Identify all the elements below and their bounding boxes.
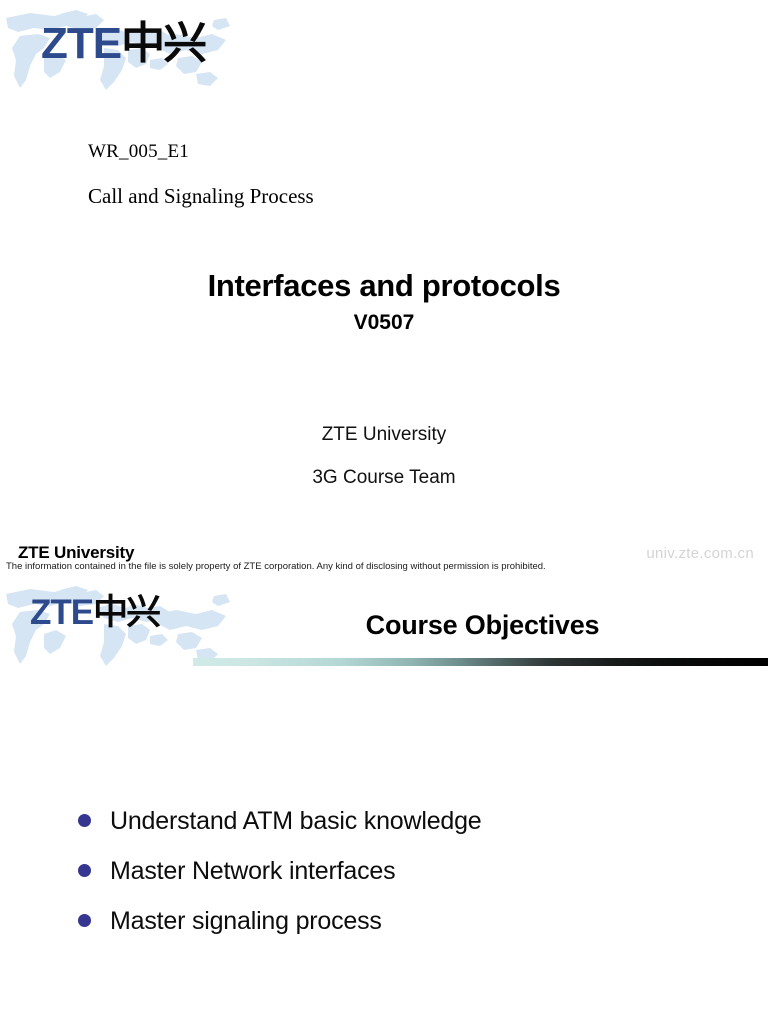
zte-logo: ZTE中兴 <box>30 595 159 631</box>
bullet-dot-icon <box>78 814 91 827</box>
presentation-page: ZTE中兴 WR_005_E1 Call and Signaling Proce… <box>0 0 768 1024</box>
zte-logo-latin: ZTE <box>30 593 93 632</box>
list-item: Understand ATM basic knowledge <box>0 796 768 846</box>
slide-course-objectives: ZTE中兴 Course Objectives Understand ATM b… <box>0 578 768 1024</box>
zte-logo-latin: ZTE <box>41 19 121 68</box>
zte-logo-han: 中兴 <box>121 18 205 69</box>
section-title: Course Objectives <box>210 610 755 641</box>
list-item-label: Master Network interfaces <box>76 857 395 886</box>
page-title: Interfaces and protocols <box>0 268 768 304</box>
footer-disclaimer: The information contained in the file is… <box>6 561 546 572</box>
document-code: WR_005_E1 <box>88 141 189 163</box>
document-subject: Call and Signaling Process <box>88 184 314 209</box>
version-label: V0507 <box>0 311 768 335</box>
zte-logo: ZTE中兴 <box>41 22 205 66</box>
bullet-dot-icon <box>78 914 91 927</box>
list-item: Master signaling process <box>0 896 768 946</box>
title-gradient-rule <box>193 658 768 666</box>
objectives-list: Understand ATM basic knowledge Master Ne… <box>0 796 768 946</box>
footer-brand: ZTE University <box>18 543 134 563</box>
team-name: 3G Course Team <box>0 467 768 489</box>
list-item: Master Network interfaces <box>0 846 768 896</box>
slide-title-page: ZTE中兴 WR_005_E1 Call and Signaling Proce… <box>0 0 768 578</box>
list-item-label: Understand ATM basic knowledge <box>76 807 482 836</box>
zte-logo-han: 中兴 <box>93 593 159 633</box>
footer-url: univ.zte.com.cn <box>646 545 754 562</box>
list-item-label: Master signaling process <box>76 907 382 936</box>
bullet-dot-icon <box>78 864 91 877</box>
organization-name: ZTE University <box>0 424 768 446</box>
